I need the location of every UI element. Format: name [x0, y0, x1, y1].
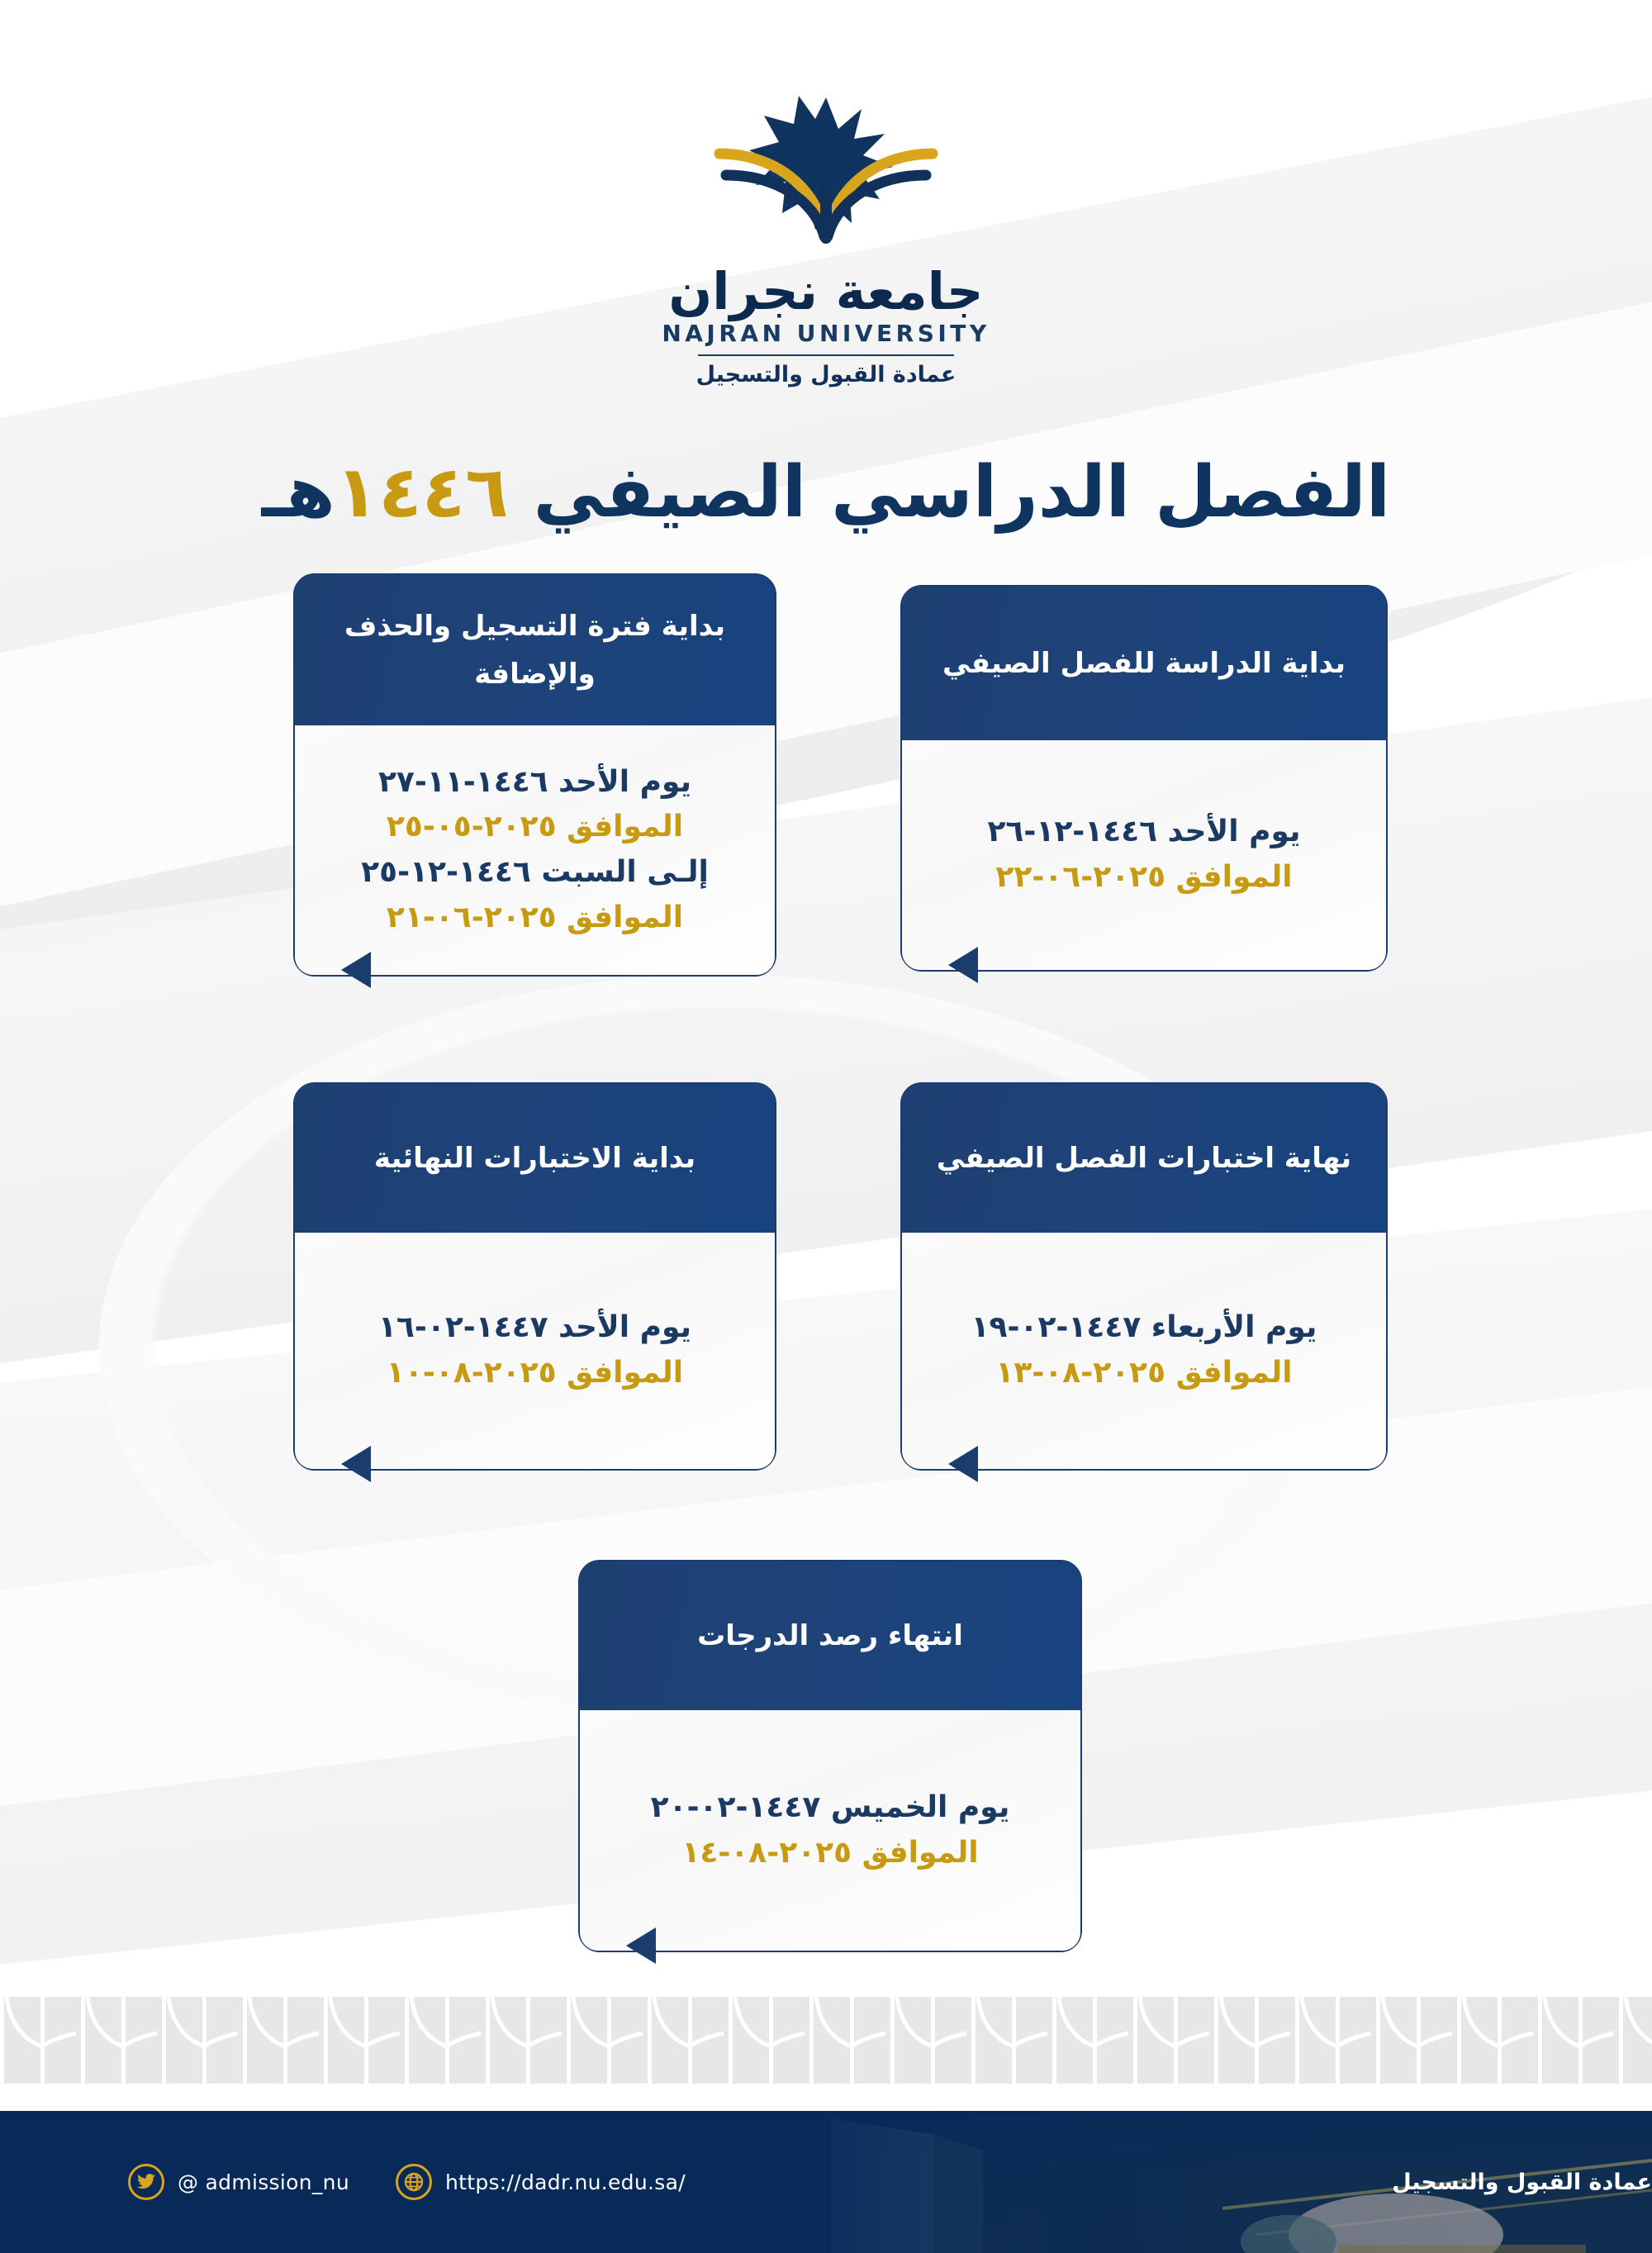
card-date-line: يوم الأحد ١٤٤٦-١٢-٢٦	[987, 810, 1300, 855]
card-date-line: الموافق ٢٠٢٥-٠٦-٢١	[387, 896, 683, 941]
twitter-handle: @ admission_nu	[178, 2170, 349, 2194]
footer-twitter[interactable]: @ admission_nu	[128, 2164, 349, 2200]
card-date-line: إلـى السبت ١٤٤٦-١٢-٢٥	[361, 850, 709, 896]
card-header: نهاية اختبارات الفصل الصيفي	[902, 1084, 1386, 1233]
card-title: انتهاء رصد الدرجات	[697, 1612, 963, 1660]
calendar-cards: بداية فترة التسجيل والحذف والإضافة يوم ا…	[0, 0, 1652, 2253]
card-title: بداية الاختبارات النهائية	[374, 1134, 695, 1182]
footer-website[interactable]: https://dadr.nu.edu.sa/	[396, 2164, 686, 2200]
card-date-line: الموافق ٢٠٢٥-٠٨-١٤	[681, 1831, 978, 1876]
card-registration[interactable]: بداية فترة التسجيل والحذف والإضافة يوم ا…	[293, 573, 776, 977]
footer-department: عمادة القبول والتسجيل	[1392, 2170, 1652, 2195]
website-url: https://dadr.nu.edu.sa/	[445, 2170, 686, 2194]
card-body: يوم الأربعاء ١٤٤٧-٠٢-١٩ الموافق ٢٠٢٥-٠٨-…	[902, 1233, 1386, 1469]
card-body: يوم الأحد ١٤٤٦-١١-٢٧ الموافق ٢٠٢٥-٠٥-٢٥ …	[295, 725, 775, 975]
card-date-line: الموافق ٢٠٢٥-٠٨-١٠	[387, 1351, 683, 1396]
card-header: انتهاء رصد الدرجات	[580, 1561, 1080, 1710]
twitter-bird-icon	[128, 2164, 164, 2200]
card-header: بداية الدراسة للفصل الصيفي	[902, 587, 1386, 740]
triangle-arrow-icon	[948, 1446, 978, 1482]
triangle-arrow-icon	[341, 1446, 371, 1482]
card-date-line: يوم الأربعاء ١٤٤٧-٠٢-١٩	[971, 1305, 1317, 1351]
card-study-start[interactable]: بداية الدراسة للفصل الصيفي يوم الأحد ١٤٤…	[900, 585, 1388, 972]
card-header: بداية الاختبارات النهائية	[295, 1084, 775, 1233]
card-body: يوم الخميس ١٤٤٧-٠٢-٢٠ الموافق ٢٠٢٥-٠٨-١٤	[580, 1710, 1080, 1951]
card-body: يوم الأحد ١٤٤٧-٠٢-١٦ الموافق ٢٠٢٥-٠٨-١٠	[295, 1233, 775, 1469]
card-body: يوم الأحد ١٤٤٦-١٢-٢٦ الموافق ٢٠٢٥-٠٦-٢٢	[902, 740, 1386, 970]
globe-icon	[396, 2164, 432, 2200]
footer-bar: @ admission_nu https://dadr.nu.edu.sa/ ع…	[0, 2111, 1652, 2253]
card-date-line: يوم الأحد ١٤٤٦-١١-٢٧	[378, 760, 691, 806]
triangle-arrow-icon	[626, 1927, 656, 1964]
triangle-arrow-icon	[948, 947, 978, 983]
card-date-line: يوم الأحد ١٤٤٧-٠٢-١٦	[378, 1305, 691, 1351]
card-finals-end[interactable]: نهاية اختبارات الفصل الصيفي يوم الأربعاء…	[900, 1082, 1388, 1471]
card-header: بداية فترة التسجيل والحذف والإضافة	[295, 575, 775, 725]
card-title: نهاية اختبارات الفصل الصيفي	[937, 1134, 1351, 1182]
card-finals-start[interactable]: بداية الاختبارات النهائية يوم الأحد ١٤٤٧…	[293, 1082, 776, 1471]
triangle-arrow-icon	[341, 952, 371, 988]
card-title: بداية الدراسة للفصل الصيفي	[942, 639, 1346, 687]
card-date-line: الموافق ٢٠٢٥-٠٥-٢٥	[387, 805, 683, 850]
card-title: بداية فترة التسجيل والحذف والإضافة	[320, 602, 750, 699]
card-date-line: يوم الخميس ١٤٤٧-٠٢-٢٠	[651, 1785, 1010, 1831]
card-date-line: الموافق ٢٠٢٥-٠٦-٢٢	[995, 855, 1292, 901]
card-grades-end[interactable]: انتهاء رصد الدرجات يوم الخميس ١٤٤٧-٠٢-٢٠…	[578, 1560, 1082, 1952]
card-date-line: الموافق ٢٠٢٥-٠٨-١٣	[995, 1351, 1292, 1396]
